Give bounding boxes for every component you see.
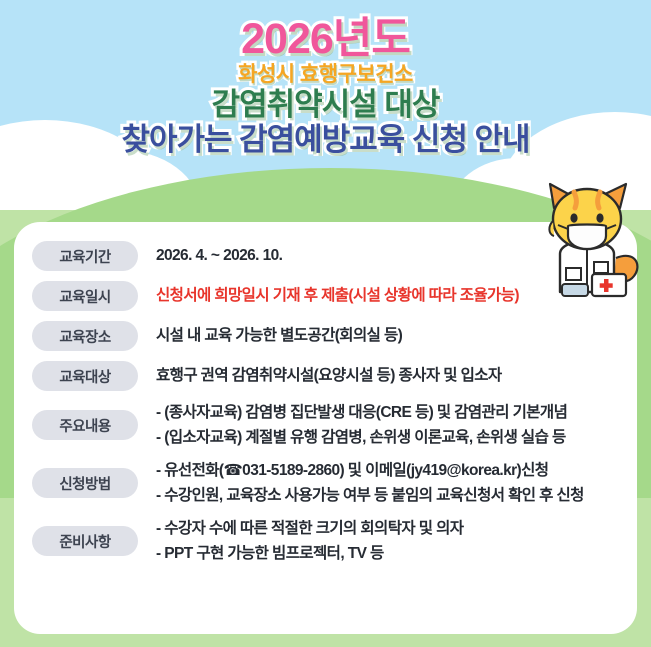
row-value-education-target: 효행구 권역 감염취약시설(요양시설 등) 종사자 및 입소자	[156, 366, 625, 386]
header-titles: 2026년도 화성시 효행구보건소 감염취약시설 대상 찾아가는 감염예방교육 …	[0, 18, 651, 155]
mascot-cat-doctor	[530, 176, 648, 301]
value-line: - PPT 구현 가능한 빔프로젝터, TV 등	[156, 544, 625, 564]
value-line: 시설 내 교육 가능한 별도공간(회의실 등)	[156, 326, 625, 346]
value-line: - (입소자교육) 계절별 유행 감염병, 손위생 이론교육, 손위생 실습 등	[156, 428, 625, 448]
row-value-preparation: - 수강자 수에 따른 적절한 크기의 회의탁자 및 의자 - PPT 구현 가…	[156, 519, 625, 564]
row-label-education-datetime: 교육일시	[32, 281, 138, 311]
row-label-main-content: 주요내용	[32, 410, 138, 440]
row-value-application-method: - 유선전화(☎031-5189-2860) 및 이메일(jy419@korea…	[156, 461, 625, 506]
table-row: 준비사항 - 수강자 수에 따른 적절한 크기의 회의탁자 및 의자 - PPT…	[14, 512, 637, 570]
mascot-eye-left	[570, 213, 577, 222]
value-line: - (종사자교육) 감염병 집단발생 대응(CRE 등) 및 감염관리 기본개념	[156, 403, 625, 423]
row-value-education-place: 시설 내 교육 가능한 별도공간(회의실 등)	[156, 326, 625, 346]
row-label-education-target: 교육대상	[32, 361, 138, 391]
table-row: 주요내용 - (종사자교육) 감염병 집단발생 대응(CRE 등) 및 감염관리…	[14, 396, 637, 454]
value-line-contact: - 유선전화(☎031-5189-2860) 및 이메일(jy419@korea…	[156, 461, 625, 481]
title-subtitle-line1: 감염취약시설 대상	[0, 89, 651, 121]
value-line: - 수강인원, 교육장소 사용가능 여부 등 붙임의 교육신청서 확인 후 신청	[156, 486, 625, 506]
table-row: 교육장소 시설 내 교육 가능한 별도공간(회의실 등)	[14, 316, 637, 356]
table-row: 교육대상 효행구 권역 감염취약시설(요양시설 등) 종사자 및 입소자	[14, 356, 637, 396]
poster-canvas: 2026년도 화성시 효행구보건소 감염취약시설 대상 찾아가는 감염예방교육 …	[0, 0, 651, 647]
title-year: 2026년도	[0, 18, 651, 62]
value-line: 효행구 권역 감염취약시설(요양시설 등) 종사자 및 입소자	[156, 366, 625, 386]
row-label-education-place: 교육장소	[32, 321, 138, 351]
row-label-preparation: 준비사항	[32, 526, 138, 556]
title-office: 화성시 효행구보건소	[0, 64, 651, 85]
title-subtitle-line2: 찾아가는 감염예방교육 신청 안내	[0, 124, 651, 156]
mascot-face-mask	[568, 225, 606, 250]
row-label-education-period: 교육기간	[32, 241, 138, 271]
table-row: 신청방법 - 유선전화(☎031-5189-2860) 및 이메일(jy419@…	[14, 454, 637, 512]
mascot-eye-right	[596, 213, 603, 222]
row-value-main-content: - (종사자교육) 감염병 집단발생 대응(CRE 등) 및 감염관리 기본개념…	[156, 403, 625, 448]
value-line: - 수강자 수에 따른 적절한 크기의 회의탁자 및 의자	[156, 519, 625, 539]
row-label-application-method: 신청방법	[32, 468, 138, 498]
mascot-illustration	[530, 176, 648, 301]
